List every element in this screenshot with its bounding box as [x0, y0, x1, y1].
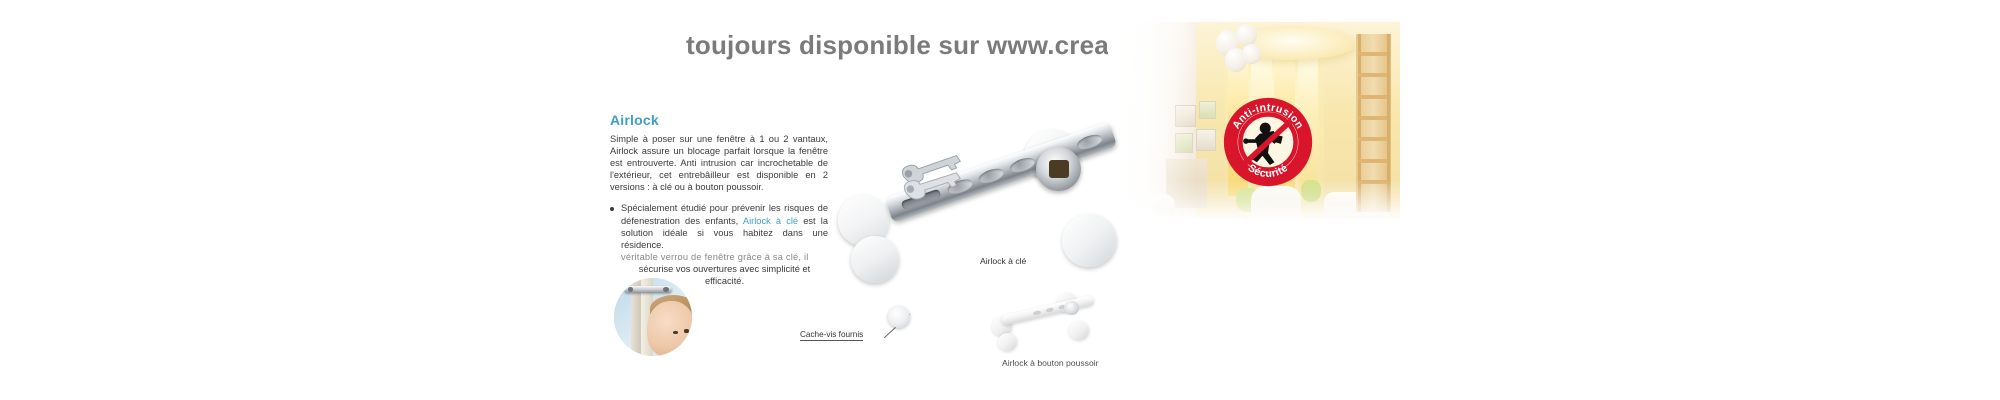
mounting-pad	[1067, 319, 1091, 342]
product-text-column: Airlock Simple à poser sur une fenêtre à…	[610, 112, 828, 287]
key-icon	[896, 144, 973, 202]
bar-hole	[1008, 155, 1036, 175]
product-description: Simple à poser sur une fenêtre à 1 ou 2 …	[610, 133, 828, 193]
bullet-highlight: Airlock à clé	[743, 216, 798, 226]
child-eye	[684, 329, 688, 332]
anti-intrusion-icon: Anti-intrusion Sécurité	[1222, 96, 1314, 188]
scan-fade-overlay	[0, 360, 2000, 400]
installed-airlock-bar	[624, 286, 672, 293]
child-eye	[673, 331, 677, 334]
keys-pair	[896, 144, 973, 212]
airlock-pushbutton-product-photo	[990, 288, 1110, 352]
child-face	[647, 301, 692, 356]
mounting-pad	[1056, 208, 1122, 272]
mounting-pad	[851, 236, 899, 284]
bar-hole	[1045, 307, 1054, 313]
caption-airlock-key: Airlock à clé	[980, 256, 1026, 266]
screwcaps-label: Cache-vis fournis	[800, 330, 863, 341]
screw-cap	[888, 306, 910, 328]
anti-intrusion-badge: Anti-intrusion Sécurité	[1222, 96, 1314, 188]
page-root: toujours disponible sur www.creasec.be	[0, 0, 2000, 400]
caption-airlock-pushbutton: Airlock à bouton poussoir	[1002, 358, 1099, 368]
lock-cylinder	[1036, 147, 1081, 191]
product-title: Airlock	[610, 112, 828, 128]
wall-shelf	[1199, 101, 1217, 119]
bar-hole	[1032, 310, 1041, 316]
wall-shelf	[1196, 129, 1216, 151]
push-button	[1064, 301, 1078, 315]
bullet-dot-icon	[610, 207, 614, 211]
balloon	[1236, 24, 1256, 46]
bar-hole	[977, 166, 1005, 186]
child-at-window-photo	[614, 278, 692, 356]
bullet-text-part3: véritable verrou de fenêtre grâce à sa c…	[621, 251, 828, 263]
product-bullet-paragraph: Spécialement étudié pour prévenir les ri…	[610, 202, 828, 287]
bar-hole	[1075, 132, 1103, 152]
